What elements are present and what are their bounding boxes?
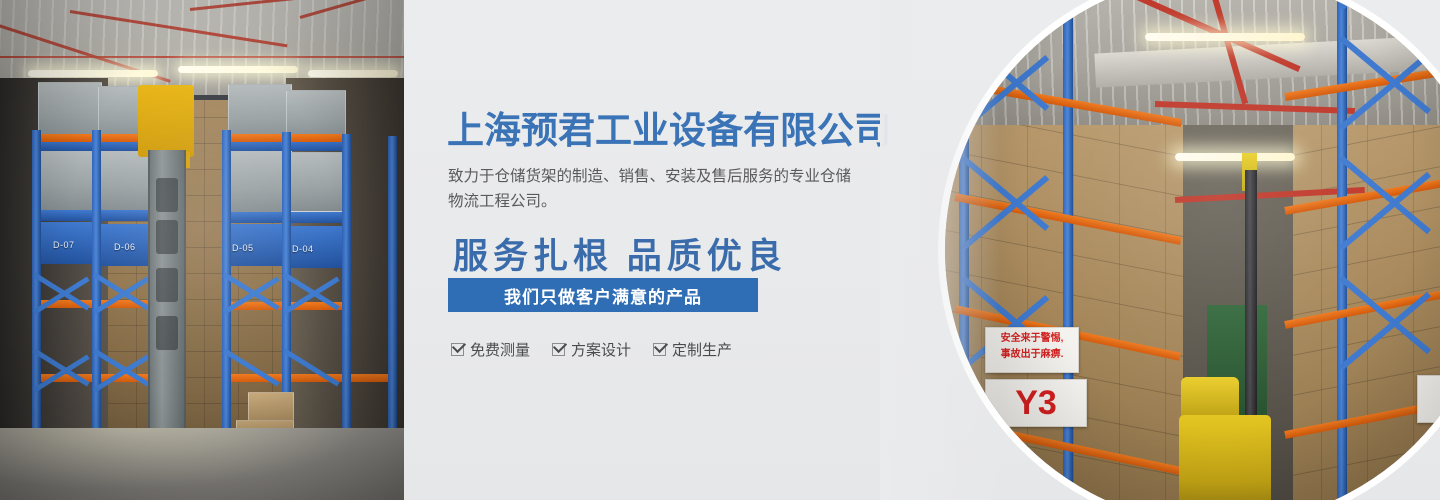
page-title: 上海预君工业设备有限公司 bbox=[447, 100, 891, 154]
left-warehouse-photo: D-07 D-06 D-05 D-04 bbox=[0, 0, 404, 500]
right-warehouse-photo: 安全来于警惕, 事故出于麻痹. Y3 Y3 bbox=[945, 0, 1440, 500]
feature-label: 定制生产 bbox=[672, 339, 732, 360]
left-photo-scene: D-07 D-06 D-05 D-04 bbox=[0, 0, 404, 500]
company-description: 致力于仓储货架的制造、销售、安装及售后服务的专业仓储物流工程公司。 bbox=[448, 164, 860, 214]
slogan-text: 服务扎根 品质优良 bbox=[453, 228, 787, 279]
check-box-icon bbox=[552, 343, 565, 356]
check-box-icon bbox=[653, 343, 666, 356]
banner-content: 上海预君工业设备有限公司 致力于仓储货架的制造、销售、安装及售后服务的专业仓储物… bbox=[447, 0, 917, 500]
check-box-icon bbox=[451, 343, 464, 356]
feature-item-solution-design[interactable]: 方案设计 bbox=[552, 339, 631, 360]
cta-button[interactable]: 我们只做客户满意的产品 bbox=[448, 278, 758, 312]
photo-vignette bbox=[945, 0, 1440, 500]
feature-item-free-measure[interactable]: 免费测量 bbox=[451, 339, 530, 360]
right-photo-ring: 安全来于警惕, 事故出于麻痹. Y3 Y3 bbox=[938, 0, 1440, 500]
feature-label: 方案设计 bbox=[571, 339, 631, 360]
feature-list: 免费测量 方案设计 定制生产 bbox=[451, 339, 732, 360]
right-photo-scene: 安全来于警惕, 事故出于麻痹. Y3 Y3 bbox=[945, 0, 1440, 500]
photo-vignette bbox=[0, 0, 404, 500]
feature-item-custom-production[interactable]: 定制生产 bbox=[653, 339, 732, 360]
feature-label: 免费测量 bbox=[470, 339, 530, 360]
hero-banner: D-07 D-06 D-05 D-04 bbox=[0, 0, 1440, 500]
